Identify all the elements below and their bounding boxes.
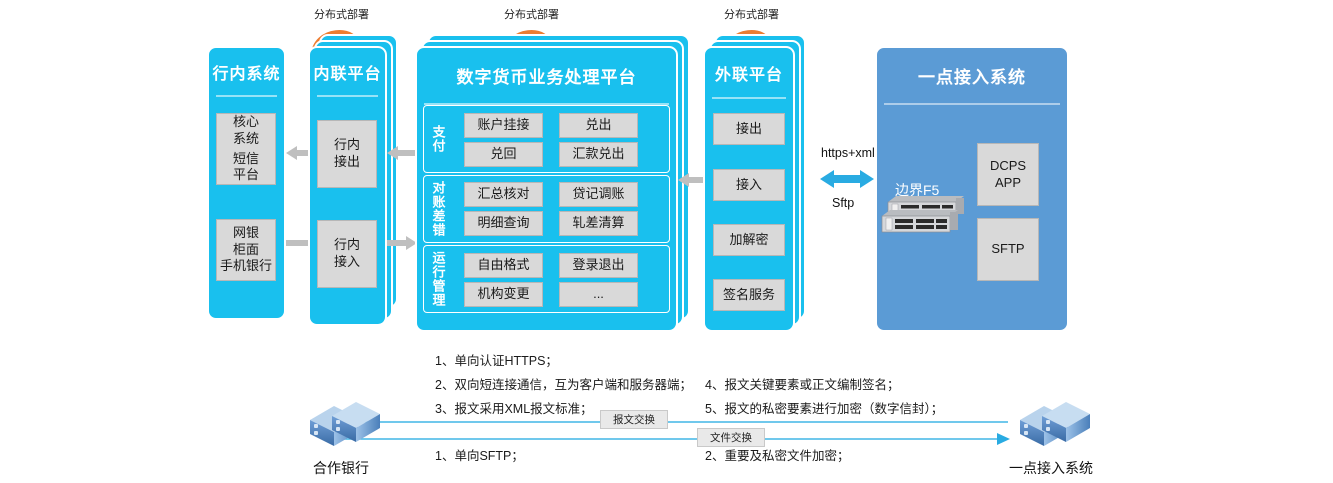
box-signature-service: 签名服务	[713, 279, 785, 311]
arrow-dcep-to-intranet	[387, 145, 417, 161]
label-message-exchange: 报文交换	[600, 410, 668, 429]
single-access-system-bottom-label: 一点接入系统	[1000, 458, 1102, 478]
box-external-inbound: 接入	[713, 169, 785, 201]
partner-bank-label: 合作银行	[300, 458, 382, 478]
group-payment-label: 支付	[427, 109, 449, 169]
panel-dcep-platform-title: 数字货币业务处理平台	[417, 63, 676, 88]
service-box-free-format: 自由格式	[464, 253, 543, 278]
service-box-account-link: 账户挂接	[464, 113, 543, 138]
box-dcps-app: DCPS APP	[977, 143, 1039, 206]
note-left-3: 3、报文采用XML报文标准；	[435, 403, 593, 416]
arrow-intranet-to-dcep	[387, 235, 417, 251]
service-box-org-change: 机构变更	[464, 282, 543, 307]
protocol-label-https-xml: https+xml	[821, 146, 875, 160]
note-left-2: 2、双向短连接通信，互为客户端和服务器端；	[435, 379, 692, 392]
group-reconciliation-label: 对账差错	[427, 178, 449, 240]
box-intranet-inbound: 行内 接入	[317, 220, 377, 288]
panel-single-access-system-title: 一点接入系统	[877, 63, 1067, 88]
service-box-exchange-out: 兑出	[559, 113, 638, 138]
line-file-exchange	[340, 432, 1010, 446]
panel-intranet-platform-title: 内联平台	[310, 60, 385, 84]
note-bottom-right: 2、重要及私密文件加密；	[705, 450, 849, 463]
distributed-deployment-caption-intranet: 分布式部署	[314, 6, 369, 22]
service-box-netting-settlement: 轧差清算	[559, 211, 638, 236]
service-box-login-logout: 登录退出	[559, 253, 638, 278]
service-box-credit-adjust: 贷记调账	[559, 182, 638, 207]
distributed-deployment-caption-external: 分布式部署	[724, 6, 779, 22]
group-operation-management-label: 运行管理	[427, 248, 449, 310]
note-right-4: 4、报文关键要素或正文编制签名；	[705, 379, 899, 392]
note-bottom-left: 1、单向SFTP；	[435, 450, 524, 463]
panel-external-platform-title: 外联平台	[705, 61, 793, 85]
distributed-deployment-caption-dcep: 分布式部署	[504, 6, 559, 22]
box-encrypt-decrypt: 加解密	[713, 224, 785, 256]
service-box-detail-query: 明细查询	[464, 211, 543, 236]
box-intranet-outbound: 行内 接出	[317, 120, 377, 188]
line-message-exchange	[340, 415, 1010, 429]
service-box-summary-check: 汇总核对	[464, 182, 543, 207]
single-access-server-icon	[1010, 400, 1092, 452]
box-ebank-counter-mobile: 网银 柜面 手机银行	[216, 219, 276, 281]
protocol-label-sftp: Sftp	[832, 196, 854, 210]
service-box-more: ...	[559, 282, 638, 307]
note-right-5: 5、报文的私密要素进行加密（数字信封）；	[705, 403, 943, 416]
service-box-remittance-out: 汇款兑出	[559, 142, 638, 167]
label-file-exchange: 文件交换	[697, 428, 765, 447]
service-box-exchange-back: 兑回	[464, 142, 543, 167]
box-external-outbound: 接出	[713, 113, 785, 145]
partner-bank-server-icon	[300, 400, 382, 452]
box-core-system: 核心 系统 短信 平台	[216, 113, 276, 185]
f5-device-icon	[880, 192, 970, 234]
note-left-1: 1、单向认证HTTPS；	[435, 355, 558, 368]
arrow-protocol-bidirectional	[820, 168, 874, 190]
panel-inner-system-title: 行内系统	[209, 60, 284, 84]
box-sftp: SFTP	[977, 218, 1039, 281]
